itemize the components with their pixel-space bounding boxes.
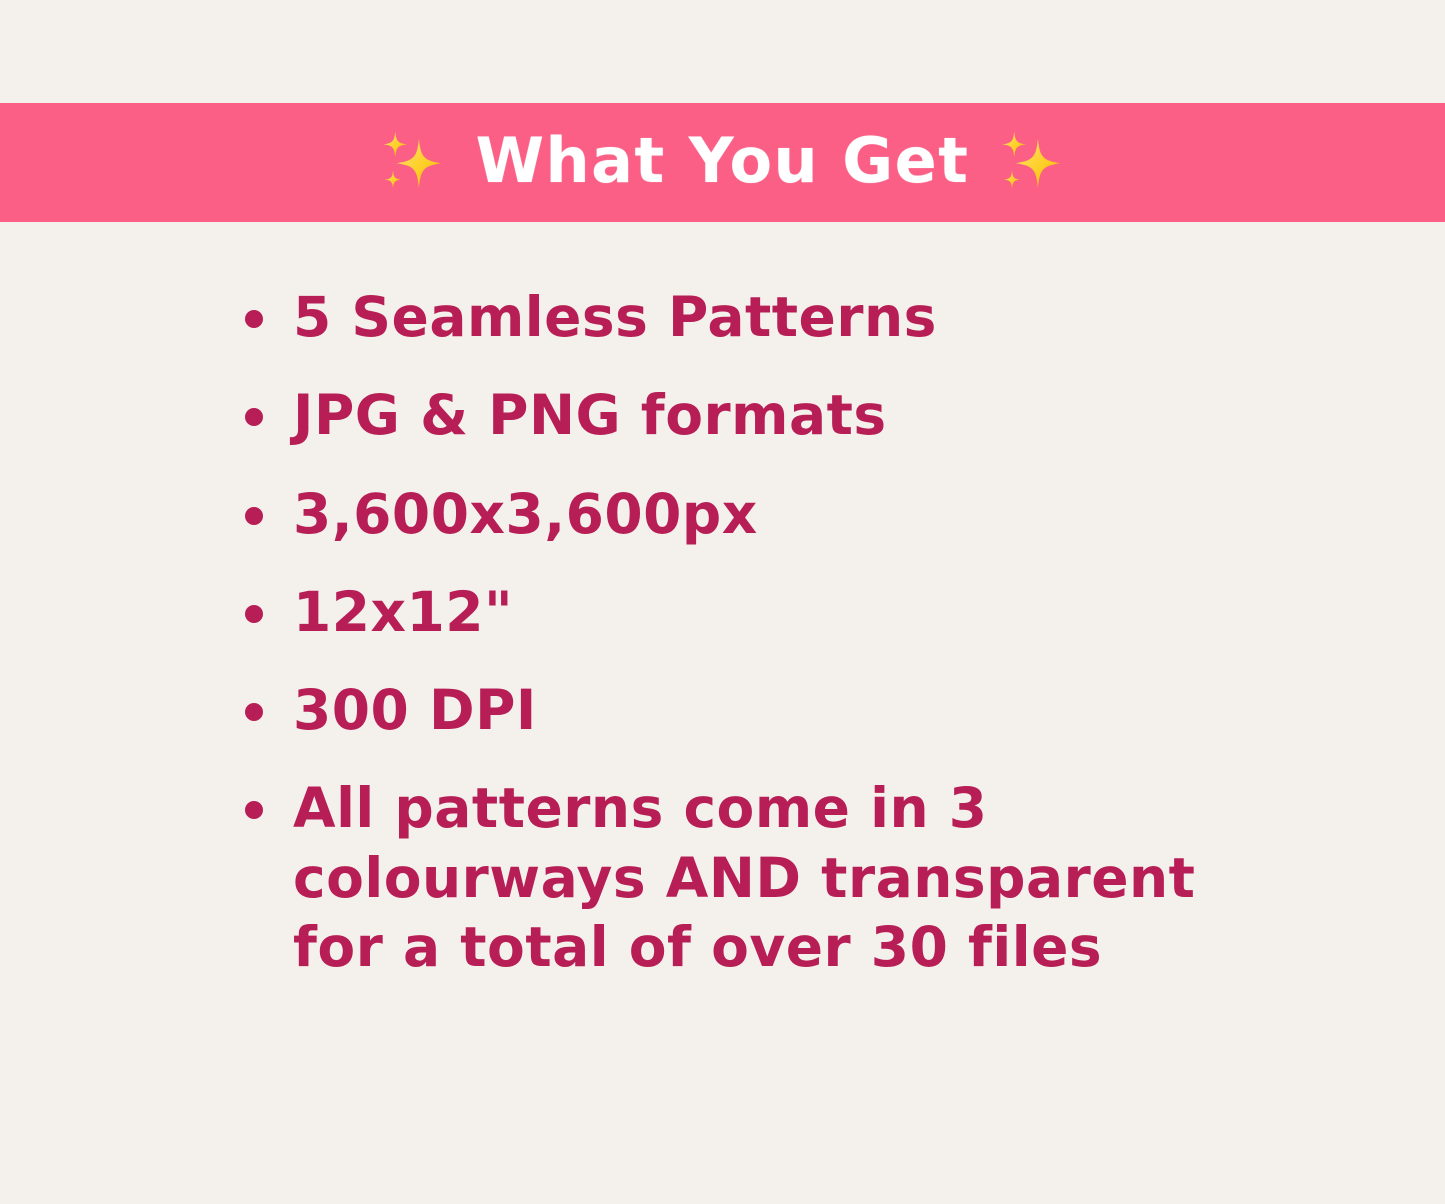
bullet-icon — [245, 310, 263, 328]
bullet-icon — [245, 703, 263, 721]
bullet-icon — [245, 801, 263, 819]
list-item-text: 300 DPI — [293, 676, 537, 745]
list-item-line: 300 DPI — [293, 676, 537, 745]
bullet-icon — [245, 507, 263, 525]
list-item-text: All patterns come in 3 colourways AND tr… — [293, 774, 1195, 982]
features-list: 5 Seamless Patterns JPG & PNG formats 3,… — [245, 283, 1365, 1011]
list-item-line: All patterns come in 3 — [293, 774, 1195, 843]
header-banner: What You Get — [0, 103, 1445, 222]
list-item-line: for a total of over 30 files — [293, 913, 1195, 982]
list-item: JPG & PNG formats — [245, 381, 1365, 450]
list-item-line: 5 Seamless Patterns — [293, 283, 937, 352]
sparkles-icon — [376, 124, 450, 198]
list-item-text: JPG & PNG formats — [293, 381, 887, 450]
list-item-text: 12x12" — [293, 578, 513, 647]
list-item: 5 Seamless Patterns — [245, 283, 1365, 352]
list-item-text: 5 Seamless Patterns — [293, 283, 937, 352]
list-item-line: 3,600x3,600px — [293, 480, 758, 549]
list-item-line: 12x12" — [293, 578, 513, 647]
list-item: 300 DPI — [245, 676, 1365, 745]
list-item-line: JPG & PNG formats — [293, 381, 887, 450]
sparkles-icon — [995, 124, 1069, 198]
bullet-icon — [245, 605, 263, 623]
list-item-line: colourways AND transparent — [293, 844, 1195, 913]
page-title: What You Get — [476, 130, 970, 192]
bullet-icon — [245, 408, 263, 426]
list-item: All patterns come in 3 colourways AND tr… — [245, 774, 1365, 982]
what-you-get-graphic: What You Get 5 Seamless Patterns — [0, 0, 1445, 1204]
list-item-text: 3,600x3,600px — [293, 480, 758, 549]
banner-content: What You Get — [376, 124, 1070, 198]
list-item: 3,600x3,600px — [245, 480, 1365, 549]
list-item: 12x12" — [245, 578, 1365, 647]
